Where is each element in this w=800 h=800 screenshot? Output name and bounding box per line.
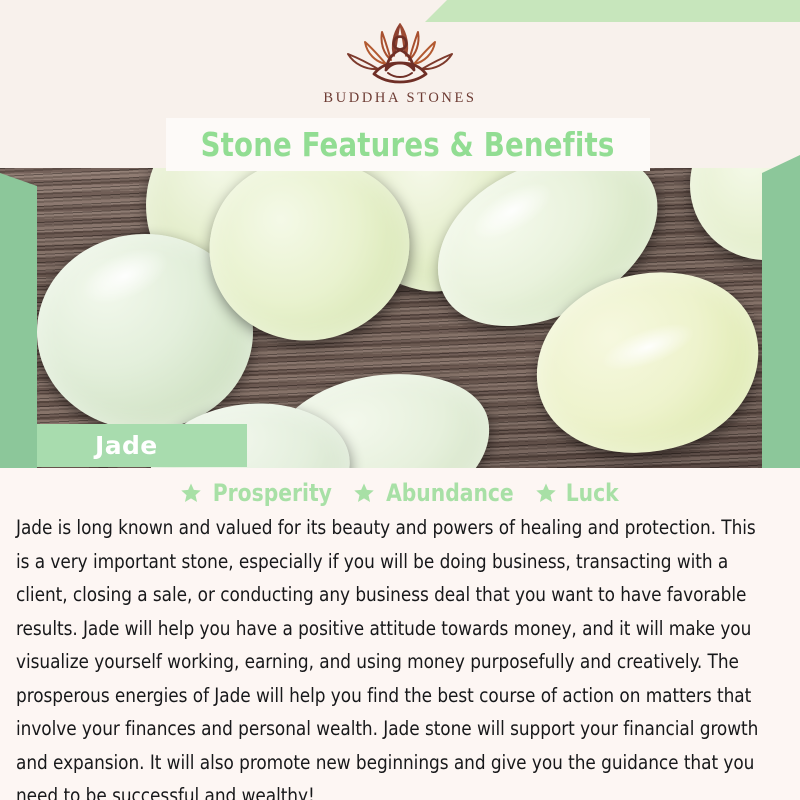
benefit-label: Abundance [386, 479, 514, 507]
stone-description: Jade is long known and valued for its be… [16, 511, 759, 800]
page-title: Stone Features & Benefits [201, 125, 615, 164]
benefit-item-abundance: Abundance [353, 479, 518, 507]
title-banner: Stone Features & Benefits [166, 118, 650, 171]
benefit-item-prosperity: Prosperity [180, 479, 336, 507]
brand-header: BUDDHA STONES [0, 0, 800, 118]
star-icon [353, 482, 375, 504]
benefits-row: Prosperity Abundance Luck [0, 468, 800, 508]
infographic-page: BUDDHA STONES Stone Features & Benefits … [0, 0, 800, 800]
star-icon [535, 482, 557, 504]
content-section: Prosperity Abundance Luck Jade is long k… [0, 468, 800, 800]
decor-rail-right [762, 155, 800, 500]
lotus-meditation-icon [334, 16, 466, 86]
benefit-item-luck: Luck [535, 479, 620, 507]
stone-name-banner: Jade [37, 424, 247, 467]
decor-rail-left [0, 173, 37, 473]
benefit-label: Prosperity [213, 479, 332, 507]
benefit-label: Luck [565, 479, 618, 507]
brand-name: BUDDHA STONES [323, 90, 476, 107]
star-icon [180, 482, 202, 504]
jade-stones-photo [0, 168, 800, 468]
stone-name-label: Jade [95, 431, 158, 460]
